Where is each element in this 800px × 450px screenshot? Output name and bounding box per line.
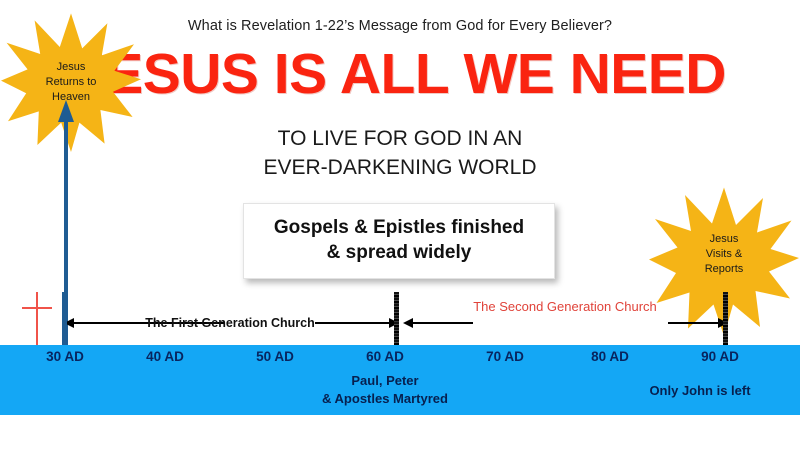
tick-label-30ad: 30 AD <box>30 349 100 364</box>
tick-label-60ad: 60 AD <box>350 349 420 364</box>
era-second-generation-line-left <box>413 322 473 324</box>
tick-label-90ad: 90 AD <box>685 349 755 364</box>
era-second-generation-line-right <box>668 322 718 324</box>
note-apostles-martyred: Paul, Peter & Apostles Martyred <box>285 372 485 408</box>
era-first-generation-label: The First Generation Church <box>130 316 330 330</box>
note-only-john-is-left: Only John is left <box>600 382 800 400</box>
note-martyred-line-2: & Apostles Martyred <box>285 390 485 408</box>
event-marker-60ad <box>394 292 399 348</box>
timeline-slide: What is Revelation 1-22’s Message from G… <box>0 0 800 450</box>
cross-horizontal-bar <box>22 307 52 309</box>
tick-label-50ad: 50 AD <box>240 349 310 364</box>
era-second-generation-arrowhead-left <box>403 318 413 328</box>
callout-line-2: & spread widely <box>252 240 546 265</box>
callout-gospels-epistles: Gospels & Epistles finished & spread wid… <box>243 203 555 279</box>
subtitle-line-2: EVER-DARKENING WORLD <box>0 153 800 182</box>
era-second-generation-label: The Second Generation Church <box>445 299 685 314</box>
tick-label-80ad: 80 AD <box>575 349 645 364</box>
tick-label-40ad: 40 AD <box>130 349 200 364</box>
callout-line-1: Gospels & Epistles finished <box>252 215 546 240</box>
marker-30ad <box>62 292 67 348</box>
tick-label-70ad: 70 AD <box>470 349 540 364</box>
cross-icon <box>22 292 52 348</box>
note-martyred-line-1: Paul, Peter <box>285 372 485 390</box>
cross-vertical-bar <box>36 292 38 348</box>
event-marker-90ad <box>723 292 728 348</box>
